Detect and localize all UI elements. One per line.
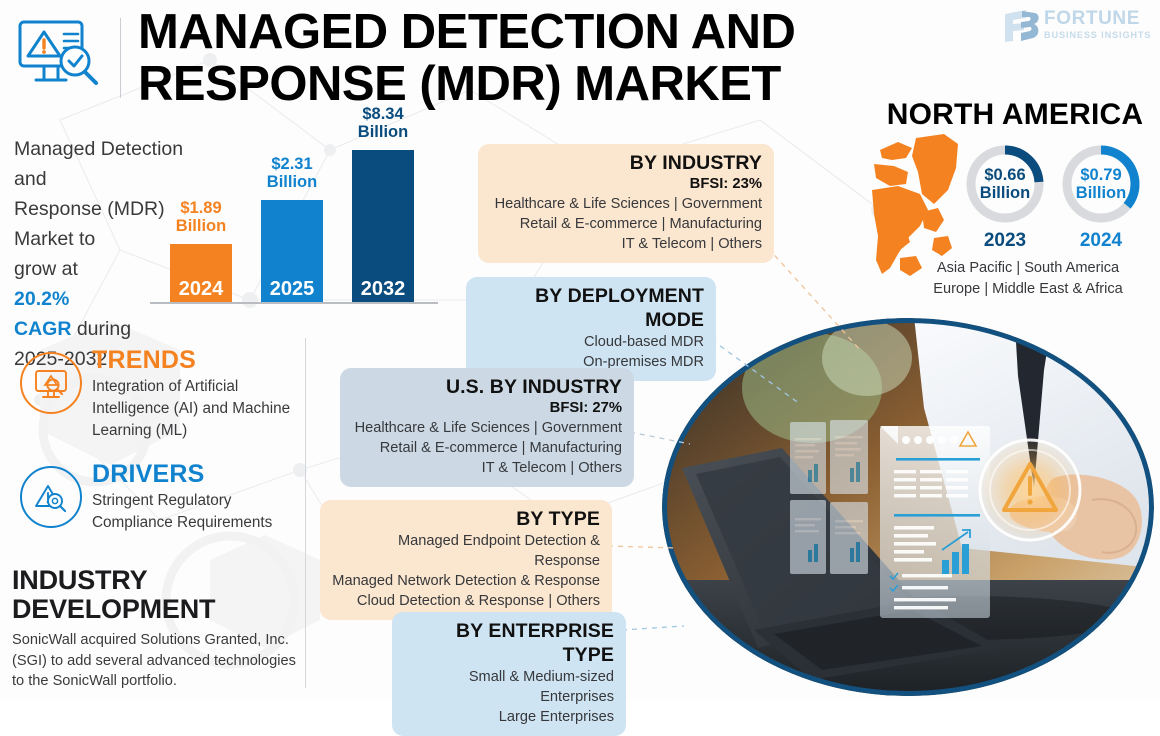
- industry-development-title-line1: INDUSTRY: [12, 565, 147, 595]
- segment-us-by-industry-line-2: Retail & E-commerce | Manufacturing: [352, 438, 622, 458]
- segment-by-type-title: BY TYPE: [332, 507, 600, 531]
- industry-development-title: INDUSTRY DEVELOPMENT: [12, 566, 308, 624]
- fortune-business-insights-logo: FORTUNE BUSINESS INSIGHTS: [1002, 8, 1152, 50]
- trends-icon-circle: [20, 352, 82, 414]
- segment-by-industry-line-1: Healthcare & Life Sciences | Government: [490, 194, 762, 214]
- drivers-icon-circle: [20, 466, 82, 528]
- donut-2024-center: $0.79 Billion: [1059, 142, 1143, 226]
- drivers-body: Stringent Regulatory Compliance Requirem…: [92, 490, 307, 534]
- segment-by-industry-line-3: IT & Telecom | Others: [490, 234, 762, 254]
- other-regions-list: Asia Pacific | South America Europe | Mi…: [900, 258, 1156, 299]
- lead-line-4: grow at: [14, 258, 78, 280]
- fb-monogram-icon: [1002, 8, 1042, 44]
- other-regions-line-1: Asia Pacific | South America: [900, 258, 1156, 279]
- segment-us-by-industry-title: U.S. BY INDUSTRY: [352, 375, 622, 399]
- lead-line-2: Response (MDR): [14, 198, 165, 220]
- donut-2024-unit: Billion: [1076, 184, 1126, 202]
- cagr-during: during: [71, 318, 131, 340]
- donut-2023-year: 2023: [963, 230, 1047, 252]
- segment-us-by-industry-subtitle: BFSI: 27%: [352, 399, 622, 418]
- vertical-divider: [305, 338, 306, 688]
- donut-2024-year: 2024: [1059, 230, 1143, 252]
- trends-title: TRENDS: [92, 346, 196, 375]
- bar-2025: $2.31Billion 2025: [261, 200, 323, 302]
- cagr-label: CAGR: [14, 318, 71, 340]
- header-divider: [120, 18, 121, 98]
- donut-2024: $0.79 Billion: [1059, 142, 1143, 226]
- chart-baseline: [150, 302, 438, 304]
- donut-2023-unit: Billion: [980, 184, 1030, 202]
- alert-gear-magnifier-icon: [22, 468, 80, 526]
- connector-by-type: [608, 546, 676, 548]
- segment-by-enterprise-type-line-1: Small & Medium-sized Enterprises: [404, 667, 614, 707]
- segment-us-by-industry-line-1: Healthcare & Life Sciences | Government: [352, 418, 622, 438]
- bar-2032: $8.34Billion 2032: [352, 150, 414, 302]
- donut-2024-value: $0.79: [1080, 166, 1121, 184]
- north-america-title: NORTH AMERICA: [876, 98, 1154, 132]
- infographic-page: MANAGED DETECTION AND RESPONSE (MDR) MAR…: [0, 0, 1160, 700]
- trends-body: Integration of Artificial Intelligence (…: [92, 376, 307, 442]
- industry-development-title-line2: DEVELOPMENT: [12, 594, 215, 624]
- segment-us-by-industry-line-3: IT & Telecom | Others: [352, 458, 622, 478]
- logo-tagline: BUSINESS INSIGHTS: [1044, 29, 1151, 41]
- segment-by-enterprise-type-line-2: Large Enterprises: [404, 707, 614, 727]
- bar-2025-category: 2025: [261, 278, 323, 300]
- drivers-title: DRIVERS: [92, 460, 205, 489]
- cagr-value: 20.2%: [14, 288, 69, 310]
- segment-us-by-industry: U.S. BY INDUSTRY BFSI: 27% Healthcare & …: [340, 368, 634, 487]
- segment-by-industry: BY INDUSTRY BFSI: 23% Healthcare & Life …: [478, 144, 774, 263]
- segment-by-industry-subtitle: BFSI: 23%: [490, 175, 762, 194]
- donut-2023-center: $0.66 Billion: [963, 142, 1047, 226]
- hero-photo-image: [662, 318, 1154, 696]
- segment-by-deployment-mode-title: BY DEPLOYMENT MODE: [478, 284, 704, 332]
- header: MANAGED DETECTION AND RESPONSE (MDR) MAR…: [0, 0, 1160, 112]
- logo-name: FORTUNE: [1044, 9, 1151, 29]
- bar-2024: $1.89Billion 2024: [170, 244, 232, 302]
- segment-by-type-line-2: Managed Network Detection & Response: [332, 571, 600, 591]
- monitor-magnifier-icon: [22, 354, 80, 412]
- bar-2024-category: 2024: [170, 278, 232, 300]
- segment-by-enterprise-type: BY ENTERPRISE TYPE Small & Medium-sized …: [392, 612, 626, 736]
- connector-by-enterprise-type: [622, 626, 684, 630]
- segment-by-type-line-3: Cloud Detection & Response | Others: [332, 591, 600, 611]
- market-size-bar-chart: $1.89Billion 2024 $2.31Billion 2025 $8.3…: [150, 132, 440, 324]
- lead-line-3: Market to: [14, 228, 95, 250]
- bar-2025-value-label: $2.31Billion: [249, 156, 335, 191]
- industry-development-body: SonicWall acquired Solutions Granted, In…: [12, 630, 308, 692]
- segment-by-type: BY TYPE Managed Endpoint Detection & Res…: [320, 500, 612, 620]
- segment-by-deployment-mode-line-1: Cloud-based MDR: [478, 332, 704, 352]
- donut-2023-value: $0.66: [984, 166, 1025, 184]
- other-regions-line-2: Europe | Middle East & Africa: [900, 279, 1156, 300]
- hero-photo: [662, 318, 1154, 696]
- bar-2032-category: 2032: [352, 278, 414, 300]
- bar-2024-value-label: $1.89Billion: [158, 200, 244, 235]
- segment-by-industry-line-2: Retail & E-commerce | Manufacturing: [490, 214, 762, 234]
- industry-development-section: INDUSTRY DEVELOPMENT SonicWall acquired …: [12, 566, 308, 692]
- segment-by-type-line-1: Managed Endpoint Detection & Response: [332, 531, 600, 571]
- segment-by-industry-title: BY INDUSTRY: [490, 151, 762, 175]
- segment-by-deployment-mode: BY DEPLOYMENT MODE Cloud-based MDR On-pr…: [466, 277, 716, 381]
- page-title: MANAGED DETECTION AND RESPONSE (MDR) MAR…: [138, 6, 878, 110]
- monitor-alert-search-icon: [14, 14, 106, 90]
- donut-2023: $0.66 Billion: [963, 142, 1047, 226]
- segment-by-enterprise-type-title: BY ENTERPRISE TYPE: [404, 619, 614, 667]
